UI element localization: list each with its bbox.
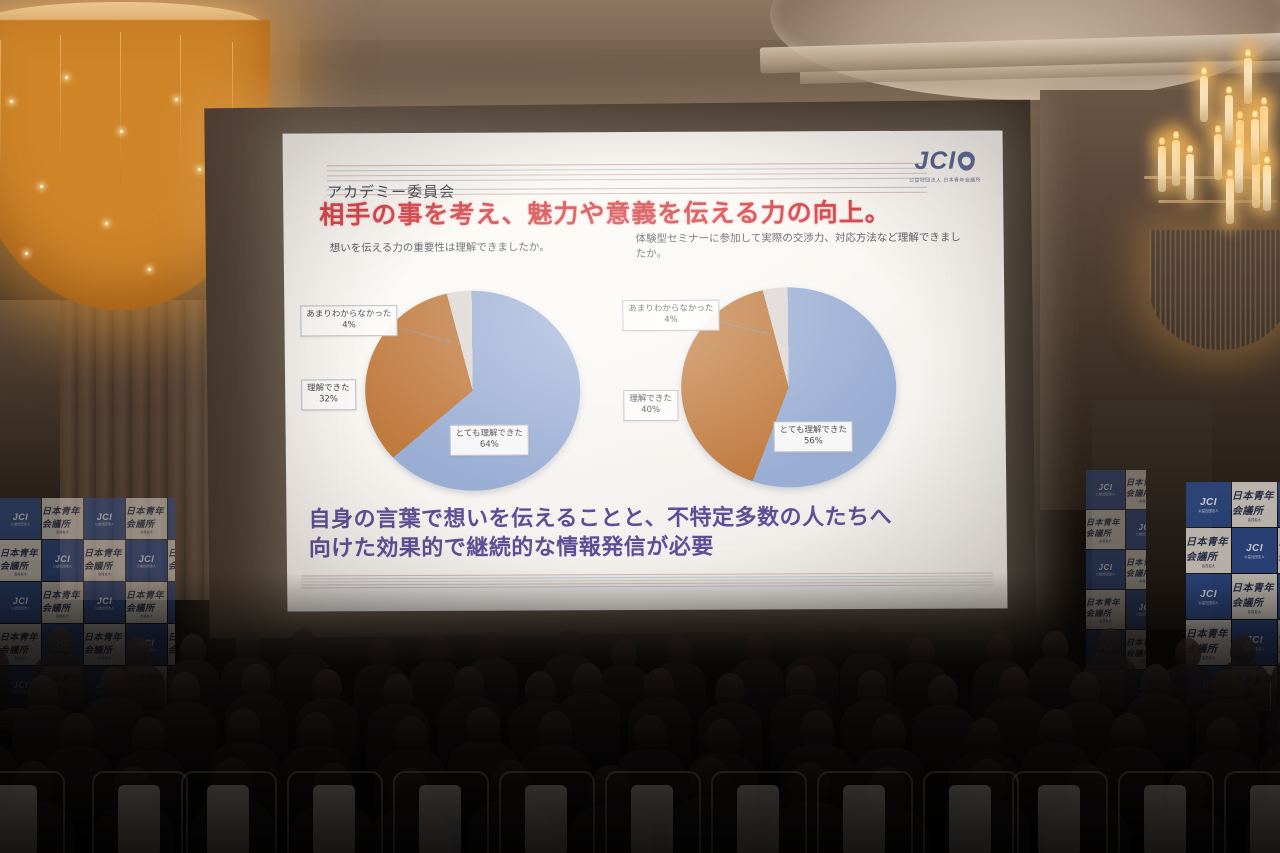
chair-back-cover [525, 785, 567, 853]
audience [0, 573, 1280, 853]
callout-value: 4% [342, 321, 356, 331]
callout-category: あまりわからなかった [306, 309, 391, 319]
audience-member-head [556, 629, 582, 658]
chair-back-cover [207, 785, 249, 853]
callout-category: とても理解できた [780, 425, 847, 435]
backdrop-tile: JCI公益社団法人 [168, 498, 175, 539]
backdrop-tile: JCI公益社団法人 [1232, 528, 1277, 573]
audience-member-head [290, 628, 316, 657]
audience-member-head [644, 668, 674, 702]
callout-value: 56% [804, 437, 823, 447]
audience-member-head [125, 637, 151, 666]
backdrop-tile: 日本青年会議所会員拡大 [1086, 510, 1125, 549]
chair-back-cover [1144, 785, 1186, 853]
backdrop-tile-mark: JCI [1099, 483, 1113, 492]
jci-mark-text: JCI [914, 147, 956, 175]
audience-member-head [454, 666, 484, 700]
backdrop-tile-mark: JCI [1139, 523, 1146, 532]
slide-header: アカデミー委員会 [283, 156, 1003, 193]
audience-member-head [715, 673, 745, 707]
chair-back-cover [843, 785, 885, 853]
chair-back-cover [737, 785, 779, 853]
backdrop-tile: 日本青年会議所会員拡大 [1232, 482, 1277, 527]
audience-member-head [132, 717, 166, 755]
audience-member-head [1097, 628, 1123, 657]
backdrop-tile-sub: 公益社団法人 [1136, 532, 1146, 536]
chart-question-right: 体験型セミナーに参加して実際の交渉力、対応方法など理解できましたか。 [636, 231, 966, 263]
chair-back-cover [1038, 785, 1080, 853]
backdrop-tile-mark: JCI [55, 554, 71, 564]
audience-member-head [1042, 631, 1068, 660]
callout-label-left-gray: あまりわからなかった 4% [300, 305, 397, 336]
backdrop-tile: 日本青年会議所会員拡大 [1126, 470, 1146, 509]
conclusion-line-1: 自身の言葉で想いを伝えることと、不特定多数の人たちへ [308, 502, 998, 534]
audience-member-head [538, 711, 572, 749]
jci-pin-icon [958, 152, 975, 171]
backdrop-tile: 日本青年会議所会員拡大 [1186, 528, 1231, 573]
chair-back-cover [313, 785, 355, 853]
slide-main-title: 相手の事を考え、魅力や意義を伝える力の向上。 [319, 193, 979, 232]
audience-member-head [1141, 664, 1171, 698]
callout-category: 理解できた [307, 383, 350, 393]
audience-member-head [854, 627, 880, 656]
backdrop-tile-mark: JCI [139, 554, 155, 564]
audience-member-head [394, 716, 428, 754]
conclusion-line-2: 向けた効果的で継続的な情報発信が必要 [309, 531, 999, 563]
backdrop-tile: 日本青年会議所会員拡大 [126, 498, 167, 539]
callout-value: 64% [480, 440, 499, 450]
backdrop-tile-mark: 日本青年会議所 [126, 504, 167, 530]
audience-member-head [1175, 638, 1201, 667]
callout-label-left-blue: とても理解できた 64% [450, 425, 530, 456]
audience-member-head [744, 633, 770, 662]
audience-member-body [0, 643, 9, 711]
chart-question-left: 想いを伝える力の重要性は理解できましたか。 [330, 240, 630, 257]
callout-category: 理解できた [629, 394, 672, 404]
audience-member-head [525, 671, 555, 705]
backdrop-tile-mark: 日本青年会議所 [1186, 533, 1231, 563]
backdrop-tile-mark: 日本青年会議所 [0, 546, 41, 572]
audience-member-head [633, 715, 667, 753]
backdrop-tile-mark: 日本青年会議所 [1086, 517, 1125, 539]
photo-scene: アカデミー委員会 JCI 公益社団法人 日本青年会議所 相手の事を考え、魅力や意… [0, 0, 1280, 853]
audience-member-head [799, 630, 825, 659]
audience-member-head [928, 675, 958, 709]
callout-category: あまりわからなかった [628, 304, 713, 314]
callout-category: とても理解できた [456, 429, 523, 439]
audience-member-head [466, 707, 500, 745]
backdrop-tile-sub: 公益社団法人 [1244, 554, 1264, 559]
backdrop-tile-sub: 会員拡大 [56, 530, 69, 534]
backdrop-tile-sub: 会員拡大 [1139, 499, 1146, 503]
callout-value: 32% [319, 395, 338, 405]
backdrop-tile-mark: 日本青年会議所 [1126, 477, 1146, 499]
callout-value: 40% [641, 405, 660, 415]
audience-member-head [423, 635, 449, 664]
audience-member-head [478, 632, 504, 661]
audience-member-head [170, 672, 200, 706]
backdrop-tile-mark: JCI [1099, 563, 1113, 572]
chair-back-cover [118, 785, 160, 853]
audience-member-head [383, 674, 413, 708]
projection-screen: アカデミー委員会 JCI 公益社団法人 日本青年会議所 相手の事を考え、魅力や意… [282, 130, 1007, 611]
chair-back-cover [419, 785, 461, 853]
backdrop-tile: JCI公益社団法人 [0, 498, 41, 539]
audience-member-head [60, 713, 94, 751]
chair-back-cover [631, 785, 673, 853]
callout-value: 4% [664, 315, 678, 325]
audience-member-head [1212, 669, 1242, 703]
audience-member-head [227, 708, 261, 746]
backdrop-tile: JCI公益社団法人 [1186, 482, 1231, 527]
audience-member-head [312, 669, 342, 703]
audience-member-head [180, 634, 206, 663]
backdrop-tile-sub: 公益社団法人 [137, 564, 156, 568]
backdrop-tile-mark: JCI [13, 512, 29, 522]
backdrop-tile-sub: 公益社団法人 [1198, 508, 1218, 513]
backdrop-tile-mark: JCI [1200, 497, 1217, 508]
audience-member-head [909, 637, 935, 666]
jci-logo: JCI 公益社団法人 日本青年会議所 [909, 147, 981, 184]
backdrop-tile: JCI公益社団法人 [1086, 470, 1125, 509]
backdrop-tile: JCI公益社団法人 [84, 498, 125, 539]
chair-back-cover [949, 785, 991, 853]
audience-member-head [987, 634, 1013, 663]
jci-logo-subtitle: 公益社団法人 日本青年会議所 [909, 177, 981, 184]
backdrop-tile-sub: 会員拡大 [1202, 563, 1216, 568]
pie-chart-left: あまりわからなかった 4% 理解できた 32% とても理解できた 64% [306, 282, 648, 498]
pie-chart-right: あまりわからなかった 4% 理解できた 40% とても理解できた 56% [632, 281, 974, 497]
audience-member-head [786, 665, 816, 699]
chandelier-crystal-drapes [1150, 230, 1280, 350]
backdrop-tile-sub: 公益社団法人 [1096, 492, 1115, 496]
presentation-slide: アカデミー委員会 JCI 公益社団法人 日本青年会議所 相手の事を考え、魅力や意… [282, 130, 1007, 611]
audience-member-head [28, 675, 58, 709]
backdrop-tile-mark: 日本青年会議所 [84, 546, 125, 572]
backdrop-tile: JCI公益社団法人 [1126, 510, 1146, 549]
audience-member-head [99, 667, 129, 701]
callout-label-right-gray: あまりわからなかった 4% [622, 300, 719, 331]
audience-member-head [1070, 672, 1100, 706]
backdrop-tile-mark: JCI [97, 512, 113, 522]
chair-back-cover [1250, 785, 1280, 853]
audience-member-head [857, 670, 887, 704]
audience-member-head [235, 631, 261, 660]
backdrop-tile-sub: 公益社団法人 [95, 522, 114, 526]
backdrop-tile-mark: 日本青年会議所 [168, 546, 175, 572]
audience-member-head [1111, 713, 1145, 751]
jci-wordmark: JCI [909, 147, 981, 176]
audience-member-head [872, 714, 906, 752]
callout-label-right-blue: とても理解できた 56% [774, 421, 854, 452]
backdrop-tile-mark: 日本青年会議所 [42, 504, 83, 530]
backdrop-tile-mark: 日本青年会議所 [1232, 487, 1277, 517]
audience-member-head [800, 710, 834, 748]
audience-member-head [1039, 709, 1073, 747]
chair-back-cover [0, 785, 37, 853]
audience-member-head [299, 712, 333, 750]
audience-member-head [967, 718, 1001, 756]
callout-label-right-orange: 理解できた 40% [623, 390, 678, 421]
audience-member-head [999, 667, 1029, 701]
backdrop-tile-sub: 会員拡大 [1248, 517, 1262, 522]
backdrop-tile-mark: JCI [1246, 543, 1263, 554]
backdrop-tile-sub: 公益社団法人 [11, 522, 30, 526]
backdrop-tile-sub: 会員拡大 [140, 530, 153, 534]
audience-member-head [573, 663, 603, 697]
audience-member-head [1230, 635, 1256, 664]
audience-member-head [47, 627, 73, 656]
backdrop-tile-sub: 公益社団法人 [53, 564, 72, 568]
audience-member-head [241, 664, 271, 698]
audience-member-head [705, 719, 739, 757]
audience-member-head [368, 638, 394, 667]
callout-label-left-orange: 理解できた 32% [301, 379, 356, 410]
audience-member-head [666, 636, 692, 665]
chandelier-far-right [1215, 85, 1280, 235]
backdrop-tile-sub: 会員拡大 [1099, 539, 1112, 543]
audience-member-head [611, 639, 637, 668]
audience-member-head [1206, 717, 1240, 755]
slide-conclusion: 自身の言葉で想いを伝えることと、不特定多数の人たちへ 向けた効果的で継続的な情報… [308, 502, 999, 563]
backdrop-tile: 日本青年会議所会員拡大 [42, 498, 83, 539]
